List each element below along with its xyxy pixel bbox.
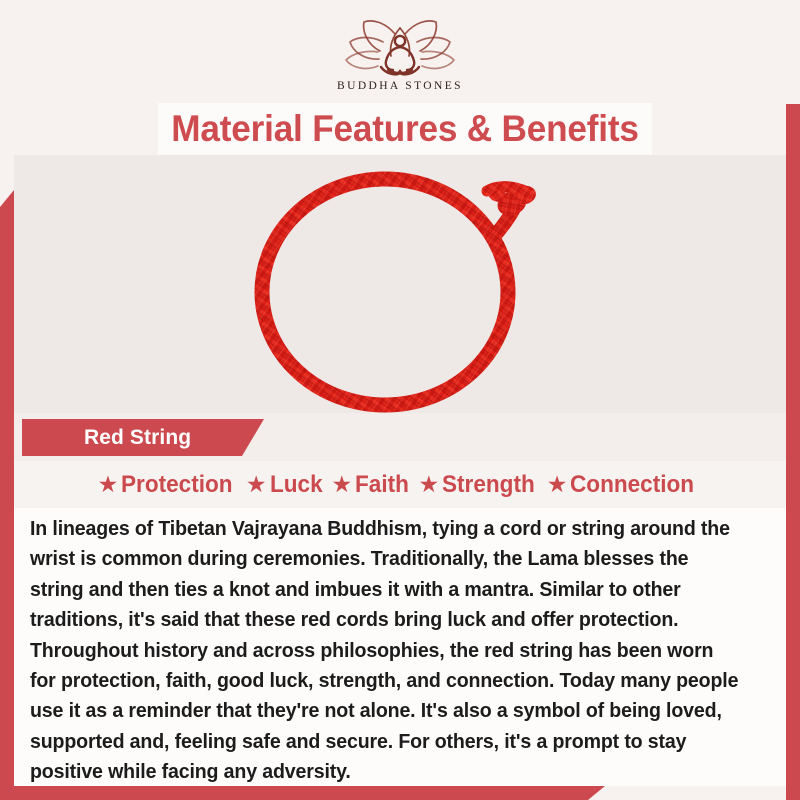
benefit-item-faith: ★ Faith: [332, 471, 413, 499]
description-panel: In lineages of Tibetan Vajrayana Buddhis…: [14, 508, 786, 786]
benefit-item-luck: ★ Luck: [246, 471, 326, 499]
star-icon: ★: [246, 473, 267, 496]
star-icon: ★: [98, 473, 119, 496]
decorative-band-right: [786, 0, 800, 800]
lotus-meditation-figure-icon: [336, 12, 464, 78]
benefit-label: Faith: [355, 471, 409, 499]
brand-header: BUDDHA STONES: [0, 0, 800, 104]
decorative-band-left: [0, 190, 14, 800]
material-name: Red String: [84, 426, 191, 450]
benefit-item-connection: ★ Connection: [547, 471, 703, 499]
benefit-label: Protection: [121, 471, 233, 499]
benefit-item-protection: ★ Protection: [98, 471, 240, 499]
benefit-item-strength: ★ Strength: [418, 471, 540, 499]
infographic-page: BUDDHA STONES Material Features & Benefi…: [0, 0, 800, 800]
material-ribbon: Red String: [22, 419, 264, 456]
star-icon: ★: [547, 473, 568, 496]
red-braided-bracelet-illustration: [235, 159, 565, 413]
benefit-label: Strength: [442, 471, 535, 499]
title-banner: Material Features & Benefits: [158, 103, 652, 155]
description-text: In lineages of Tibetan Vajrayana Buddhis…: [30, 514, 738, 788]
brand-name: BUDDHA STONES: [337, 80, 463, 92]
benefit-label: Connection: [570, 471, 694, 499]
product-image: [14, 155, 786, 413]
star-icon: ★: [332, 473, 353, 496]
star-icon: ★: [418, 473, 439, 496]
benefit-label: Luck: [270, 471, 323, 499]
page-title: Material Features & Benefits: [171, 108, 638, 150]
decorative-band-bottom: [0, 786, 605, 800]
material-ribbon-row: Red String: [14, 413, 786, 461]
benefits-list: ★ Protection ★ Luck ★ Faith ★ Strength ★…: [14, 461, 786, 508]
